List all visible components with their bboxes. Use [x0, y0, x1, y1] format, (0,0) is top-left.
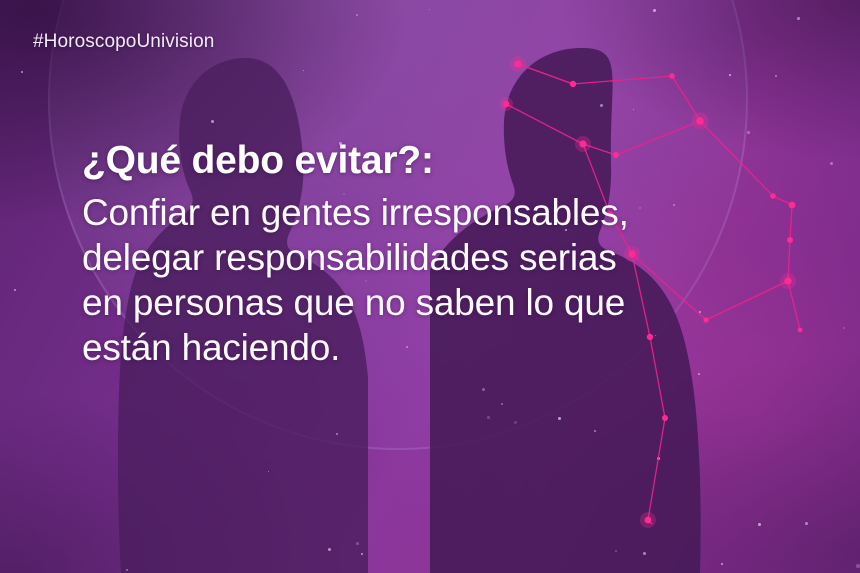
body-line-1: Confiar en gentes irresponsables, [82, 190, 842, 235]
body-line-3: en personas que no saben lo que [82, 280, 842, 325]
page-title: ¿Qué debo evitar?: [82, 139, 842, 183]
hashtag-label: #HoroscopoUnivision [33, 31, 214, 53]
horoscope-card: #HoroscopoUnivision ¿Qué debo evitar?: C… [0, 0, 860, 573]
body-line-4: están haciendo. [82, 325, 842, 370]
body-line-2: delegar responsabilidades serias [82, 235, 842, 280]
copy-block: ¿Qué debo evitar?: Confiar en gentes irr… [82, 139, 842, 370]
